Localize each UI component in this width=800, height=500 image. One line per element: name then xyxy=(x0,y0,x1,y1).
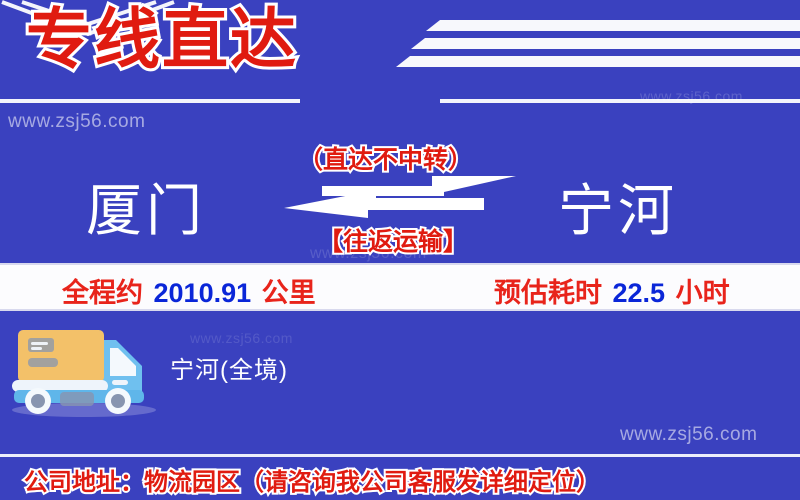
logistics-route-banner: 专线直达 www.zsj56.com www.zsj56.com www.zsj… xyxy=(0,0,800,500)
coverage-label: 宁河(全境) xyxy=(170,350,288,385)
watermark-top-left: www.zsj56.com xyxy=(8,111,145,133)
total-distance: 全程约 2010.91 公里 xyxy=(62,271,316,310)
route-roundtrip-label: 【往返运输】 xyxy=(318,222,468,258)
watermark-faint-truck: www.zsj56.com xyxy=(190,330,293,346)
distance-label-prefix: 全程约 xyxy=(62,278,143,308)
company-address: 公司地址：物流园区（请咨询我公司客服发详细定位） xyxy=(24,462,600,497)
divider-line-left xyxy=(0,99,300,103)
duration-label-prefix: 预估耗时 xyxy=(494,278,602,308)
decorative-stripe-3 xyxy=(410,56,800,67)
duration-label-suffix: 小时 xyxy=(676,278,730,308)
watermark-bottom-right: www.zsj56.com xyxy=(620,424,757,446)
duration-value: 22.5 xyxy=(610,278,669,308)
delivery-truck-icon xyxy=(6,318,166,423)
estimated-duration: 预估耗时 22.5 小时 xyxy=(494,271,730,310)
bidirectional-arrow-icon xyxy=(284,172,516,225)
info-band: 全程约 2010.91 公里 预估耗时 22.5 小时 xyxy=(0,263,800,311)
banner-headline: 专线直达 xyxy=(26,2,298,78)
decorative-stripe-1 xyxy=(440,20,800,31)
divider-line-right xyxy=(440,99,800,103)
destination-city: 宁河 xyxy=(558,166,678,247)
origin-city: 厦门 xyxy=(86,166,206,247)
distance-label-suffix: 公里 xyxy=(262,278,316,308)
footer-divider xyxy=(0,454,800,457)
route-direct-label: （直达不中转） xyxy=(298,140,473,176)
decorative-stripe-2 xyxy=(425,38,800,49)
distance-value: 2010.91 xyxy=(151,278,255,308)
